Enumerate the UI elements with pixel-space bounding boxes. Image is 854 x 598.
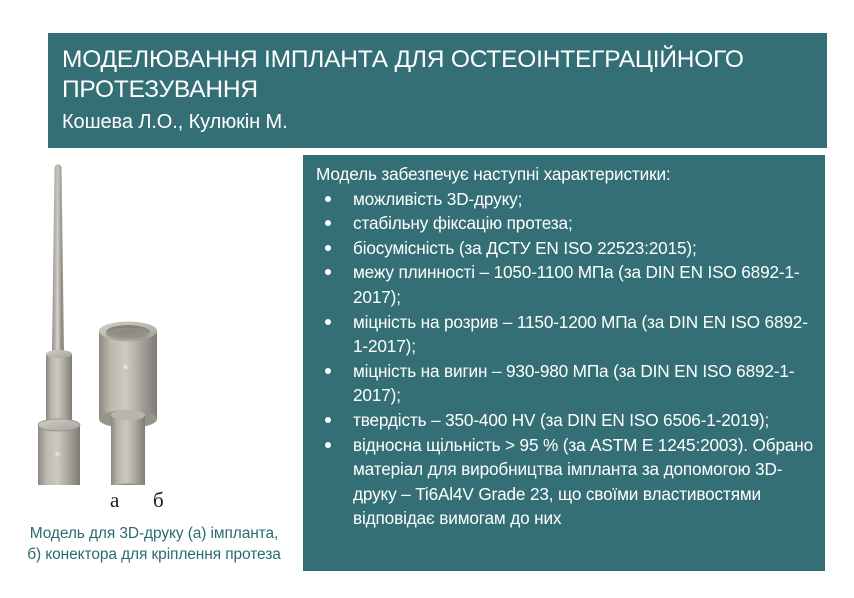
part-label-b: б: [153, 488, 164, 513]
list-item: біосумісність (за ДСТУ EN ISO 22523:2015…: [313, 236, 815, 261]
list-item-label: твердість – 350-400 HV (за DIN EN ISO 65…: [353, 410, 769, 430]
bullet-dot-icon: [325, 269, 331, 275]
authors-line: Кошева Л.О., Кулюкін М.: [62, 109, 811, 135]
part-labels: а б: [10, 488, 298, 518]
connector-model-b: [99, 322, 157, 486]
list-item-label: міцність на вигин – 930-980 МПа (за DIN …: [353, 361, 794, 406]
bullet-dot-icon: [325, 442, 331, 448]
list-item: міцність на розрив – 1150-1200 МПа (за D…: [313, 310, 815, 359]
bullet-dot-icon: [325, 245, 331, 251]
list-item: міцність на вигин – 930-980 МПа (за DIN …: [313, 359, 815, 408]
list-item-label: стабільну фіксацію протеза;: [353, 213, 573, 233]
figure-area: а б Модель для 3D-друку (а) імпланта, б)…: [10, 155, 298, 571]
list-item: відносна щільність > 95 % (за ASTM E 124…: [313, 433, 815, 531]
part-label-a: а: [110, 488, 119, 513]
list-item: межу плинності – 1050-1100 МПа (за DIN E…: [313, 260, 815, 309]
list-item-label: міцність на розрив – 1150-1200 МПа (за D…: [353, 312, 808, 357]
bullet-dot-icon: [325, 196, 331, 202]
characteristics-list: можливість 3D-друку;стабільну фіксацію п…: [313, 187, 815, 531]
list-item: стабільну фіксацію протеза;: [313, 211, 815, 236]
list-item-label: можливість 3D-друку;: [353, 189, 522, 209]
panel-intro-text: Модель забезпечує наступні характеристик…: [316, 162, 815, 187]
characteristics-panel: Модель забезпечує наступні характеристик…: [303, 155, 825, 571]
implant-model-a: [38, 164, 80, 485]
bullet-dot-icon: [325, 368, 331, 374]
list-item-label: межу плинності – 1050-1100 МПа (за DIN E…: [353, 262, 799, 307]
cad-model-illustration: [10, 155, 298, 485]
list-item-label: біосумісність (за ДСТУ EN ISO 22523:2015…: [353, 238, 697, 258]
title-banner: МОДЕЛЮВАННЯ ІМПЛАНТА ДЛЯ ОСТЕОІНТЕГРАЦІЙ…: [48, 33, 827, 148]
list-item: можливість 3D-друку;: [313, 187, 815, 212]
list-item-label: відносна щільність > 95 % (за ASTM E 124…: [353, 435, 813, 529]
figure-caption: Модель для 3D-друку (а) імпланта, б) кон…: [10, 523, 298, 565]
bullet-dot-icon: [325, 319, 331, 325]
list-item: твердість – 350-400 HV (за DIN EN ISO 65…: [313, 408, 815, 433]
bullet-dot-icon: [325, 417, 331, 423]
bullet-dot-icon: [325, 220, 331, 226]
page-title: МОДЕЛЮВАННЯ ІМПЛАНТА ДЛЯ ОСТЕОІНТЕГРАЦІЙ…: [62, 45, 811, 105]
